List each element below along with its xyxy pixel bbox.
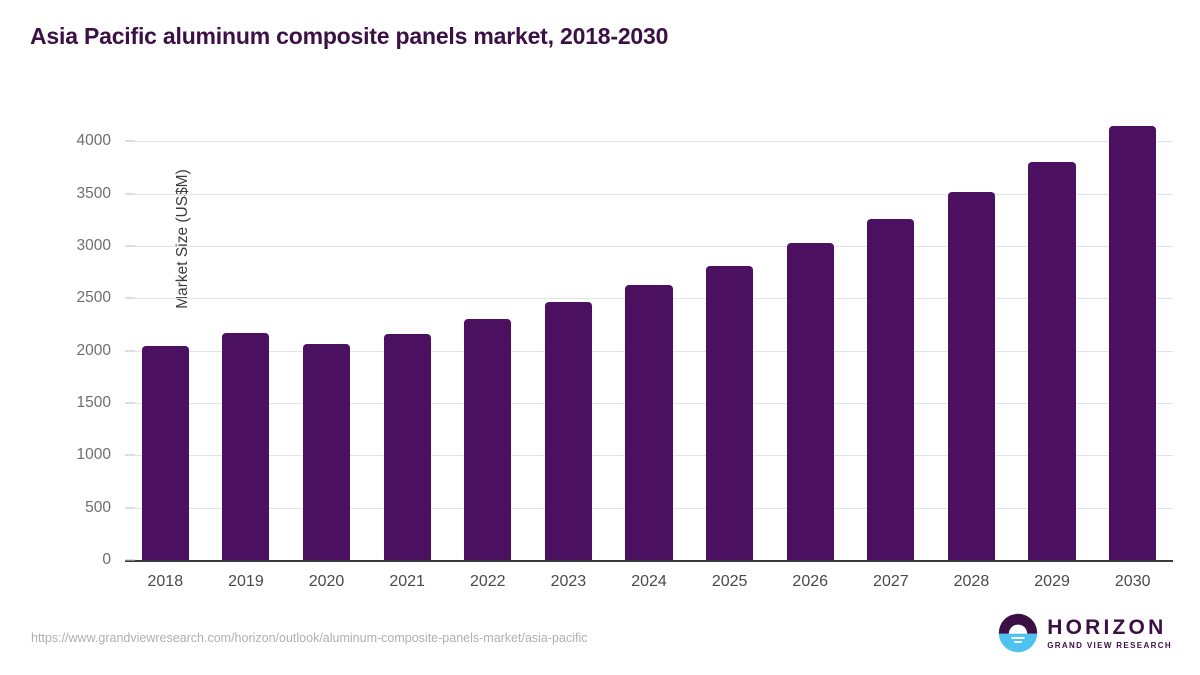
bar-2023[interactable]: [545, 302, 592, 560]
y-tick-label: 0: [102, 551, 111, 569]
y-tick-label: 500: [85, 499, 111, 517]
bar-2024[interactable]: [625, 285, 672, 560]
x-tick-label-2025: 2025: [712, 573, 748, 591]
y-tick-label: 1000: [77, 446, 111, 464]
gridline: [125, 560, 1173, 562]
x-tick-label-2029: 2029: [1034, 573, 1070, 591]
plot-area: Market Size (US$M) 050010001500200025003…: [125, 110, 1173, 560]
x-tick-label-2020: 2020: [309, 573, 345, 591]
brand-tagline: GRAND VIEW RESEARCH: [1047, 642, 1172, 650]
brand-text-block: HORIZON GRAND VIEW RESEARCH: [1047, 617, 1172, 650]
bar-2018[interactable]: [142, 346, 189, 560]
y-tick-label: 3500: [77, 185, 111, 203]
x-tick-label-2018: 2018: [148, 573, 184, 591]
bars-layer: [125, 110, 1173, 560]
x-tick-label-2027: 2027: [873, 573, 909, 591]
x-tick-label-2024: 2024: [631, 573, 667, 591]
bar-2020[interactable]: [303, 344, 350, 560]
x-tick-label-2030: 2030: [1115, 573, 1151, 591]
y-tick-label: 2000: [77, 342, 111, 360]
source-url-text: https://www.grandviewresearch.com/horizo…: [31, 631, 587, 645]
x-tick-label-2019: 2019: [228, 573, 264, 591]
bar-2019[interactable]: [222, 333, 269, 560]
y-tick-label: 3000: [77, 237, 111, 255]
horizon-sun-circle-icon: [998, 613, 1038, 653]
y-tick-label: 2500: [77, 289, 111, 307]
bar-2025[interactable]: [706, 266, 753, 560]
bar-2026[interactable]: [787, 243, 834, 560]
bar-2028[interactable]: [948, 192, 995, 560]
y-tick-label: 1500: [77, 394, 111, 412]
x-tick-label-2023: 2023: [551, 573, 587, 591]
x-tick-label-2022: 2022: [470, 573, 506, 591]
bar-2022[interactable]: [464, 319, 511, 560]
brand-logo: HORIZON GRAND VIEW RESEARCH: [998, 613, 1172, 653]
bar-2027[interactable]: [867, 219, 914, 560]
bar-2021[interactable]: [384, 334, 431, 560]
chart-page: Asia Pacific aluminum composite panels m…: [0, 0, 1200, 675]
x-tick-label-2026: 2026: [792, 573, 828, 591]
y-tick-label: 4000: [77, 132, 111, 150]
bar-2029[interactable]: [1028, 162, 1075, 560]
brand-wordmark: HORIZON: [1047, 617, 1172, 638]
x-tick-label-2021: 2021: [389, 573, 425, 591]
page-title: Asia Pacific aluminum composite panels m…: [30, 23, 668, 50]
x-tick-label-2028: 2028: [954, 573, 990, 591]
bar-2030[interactable]: [1109, 126, 1156, 560]
